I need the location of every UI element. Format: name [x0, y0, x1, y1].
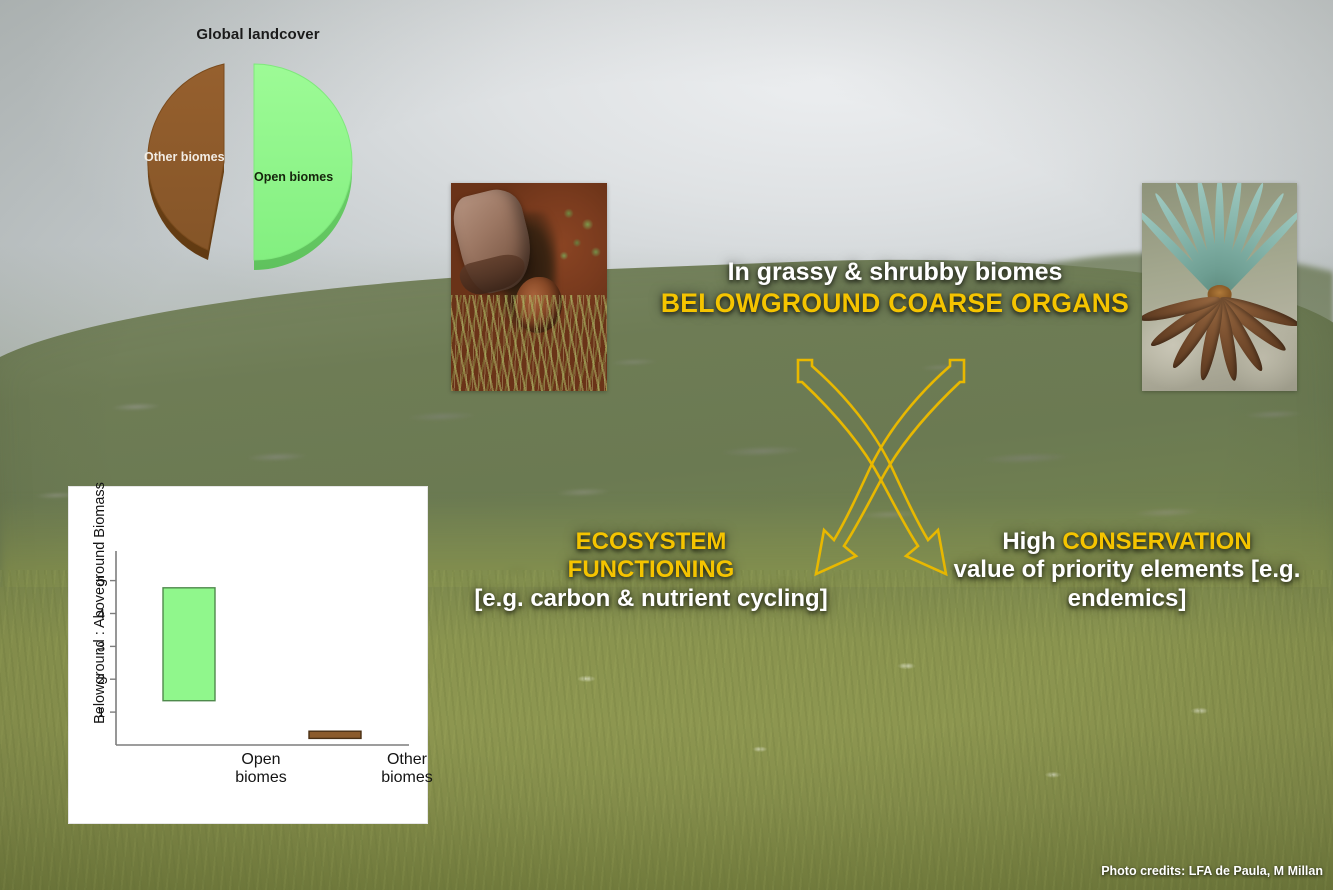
bar-chart-x-label-open-biomes: Openbiomes — [187, 751, 335, 787]
eco-emphasis-line-2: FUNCTIONING — [466, 556, 836, 584]
pie-slice-open-biomes — [254, 64, 352, 260]
bar-chart-panel: Belowground : Aboveground Biomass 1 2 3 … — [68, 486, 428, 824]
svg-text:3: 3 — [97, 638, 105, 654]
leaf-rosette — [1142, 183, 1297, 295]
svg-text:1: 1 — [97, 704, 105, 720]
cons-emphasis: CONSERVATION — [1062, 528, 1251, 555]
photo-excavated-coarse-organ — [451, 183, 607, 391]
cons-heading: High CONSERVATION — [946, 528, 1308, 556]
headline-line-1: In grassy & shrubby biomes — [630, 258, 1160, 288]
pie-label-other-biomes: Other biomes — [144, 150, 225, 164]
cons-detail: value of priority elements [e.g. endemic… — [946, 556, 1308, 613]
eco-detail: [e.g. carbon & nutrient cycling] — [466, 585, 836, 613]
shrub-foliage — [551, 195, 607, 287]
photo-plant-with-tubers — [1142, 183, 1297, 391]
eco-emphasis-line-1: ECOSYSTEM — [466, 528, 836, 556]
bar-chart-y-ticks — [110, 581, 116, 713]
bar-open-biomes — [163, 588, 215, 701]
bar-other-biomes — [309, 731, 361, 738]
headline-line-2: BELOWGROUND COARSE ORGANS — [630, 288, 1160, 319]
svg-text:5: 5 — [97, 573, 105, 589]
cons-lead: High — [1002, 528, 1062, 555]
bar-chart-x-label-other-biomes: Otherbiomes — [333, 751, 481, 787]
x-label-other-line1: Otherbiomes — [381, 751, 433, 786]
grass-overlay — [451, 295, 607, 391]
pie-chart-title: Global landcover — [126, 26, 390, 43]
headline-block: In grassy & shrubby biomes BELOWGROUND C… — [630, 258, 1160, 319]
x-label-open-line1: Openbiomes — [235, 751, 287, 786]
pie-label-open-biomes: Open biomes — [254, 170, 333, 184]
svg-text:2: 2 — [97, 671, 105, 687]
pie-chart-global-landcover: Global landcover — [126, 26, 390, 276]
photo-credits: Photo credits: LFA de Paula, M Millan — [1101, 864, 1323, 878]
outcome-ecosystem-functioning: ECOSYSTEM FUNCTIONING [e.g. carbon & nut… — [466, 528, 836, 613]
bar-chart-y-tick-labels: 1 2 3 4 5 — [97, 573, 105, 721]
outcome-conservation-value: High CONSERVATION value of priority elem… — [946, 528, 1308, 613]
graphical-abstract: Global landcover — [0, 0, 1333, 890]
svg-text:4: 4 — [97, 606, 105, 622]
